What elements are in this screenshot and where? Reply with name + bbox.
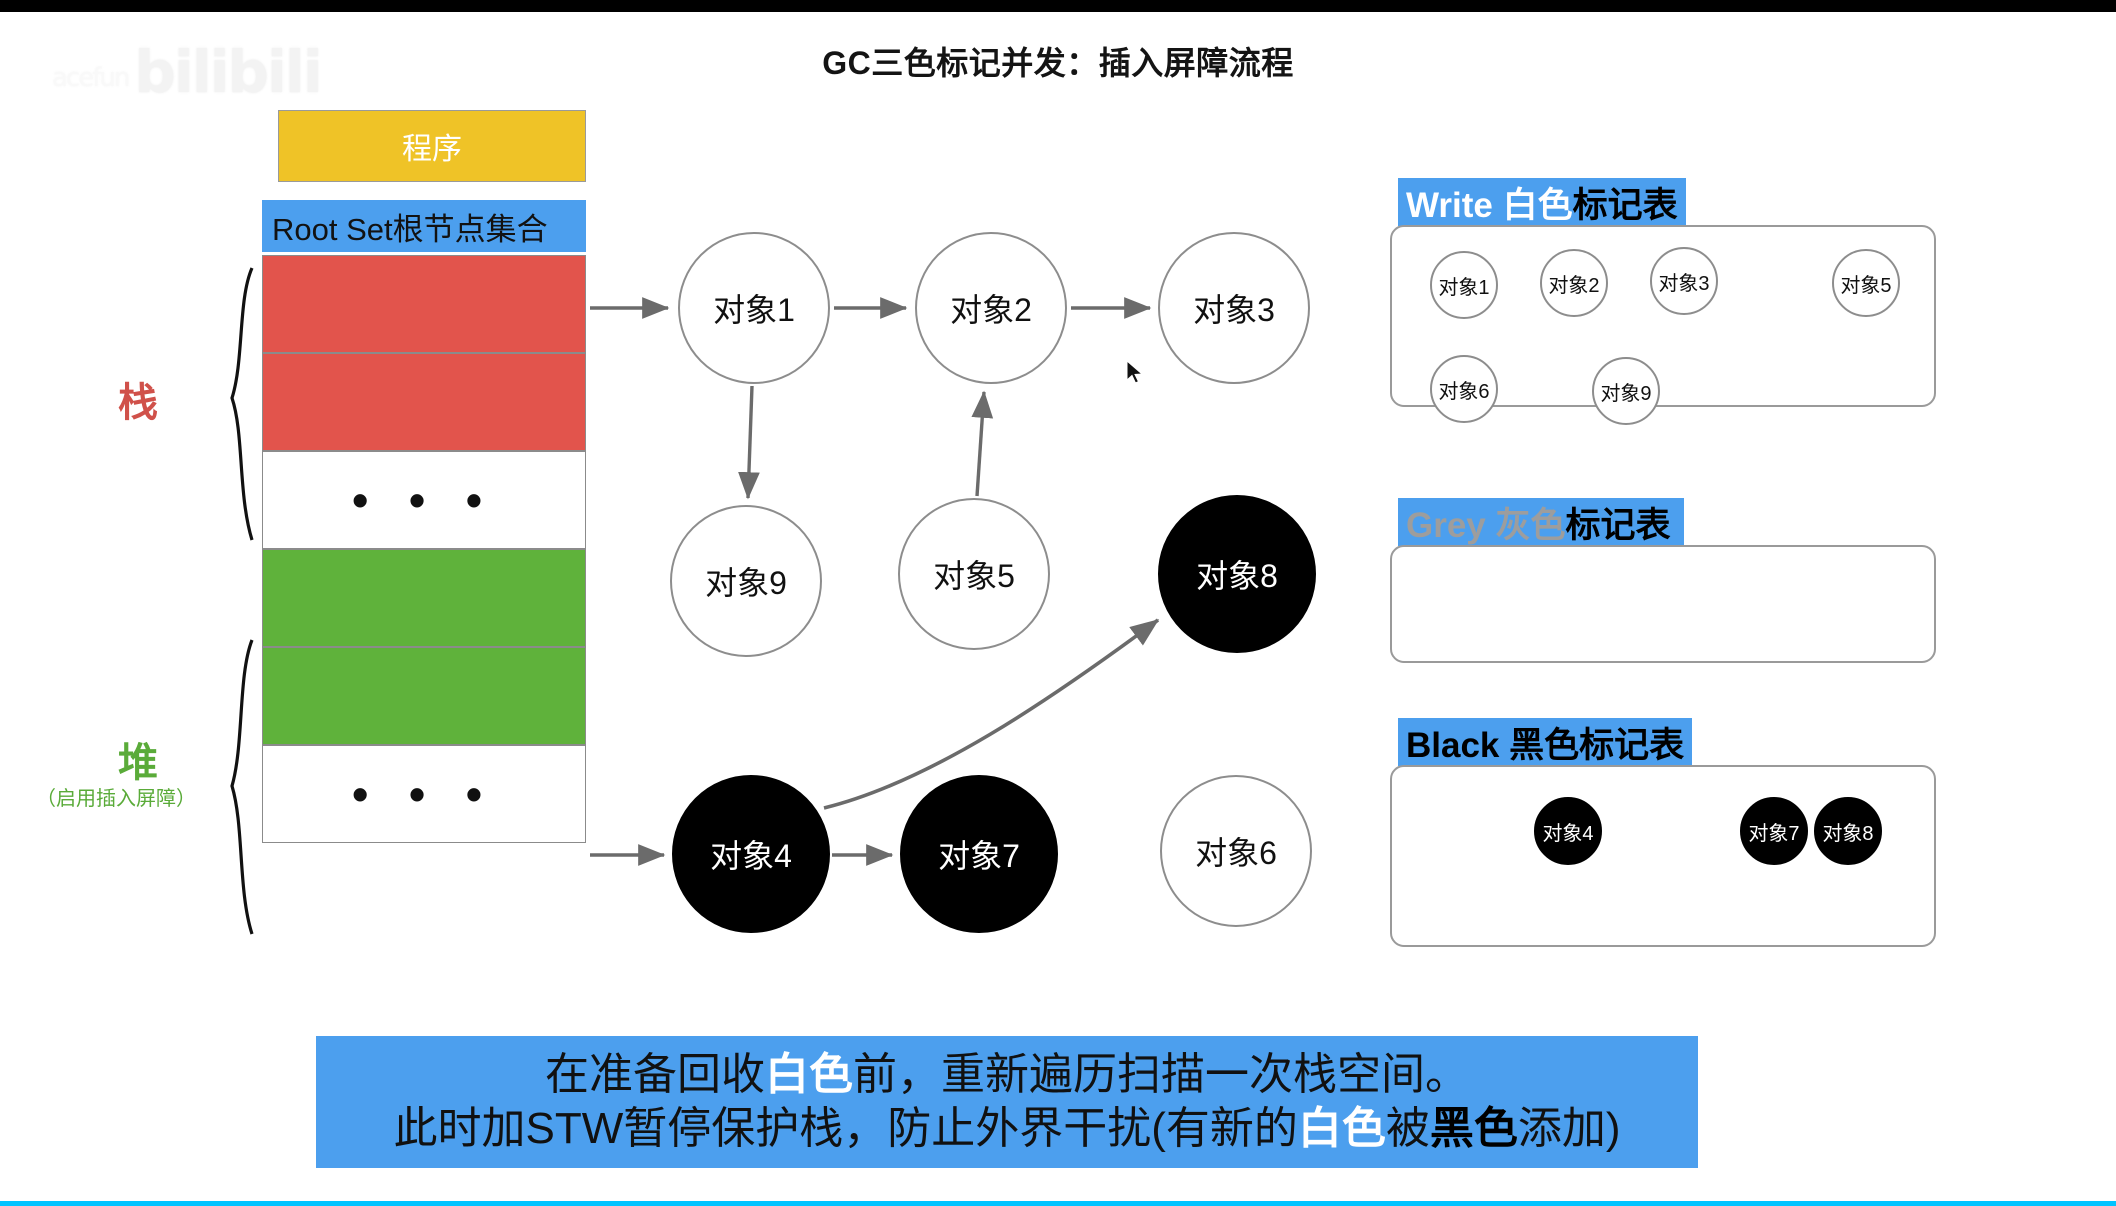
graph-node-o9[interactable]: 对象9 — [670, 505, 822, 657]
table-header-rest: 标记表 — [1573, 177, 1678, 228]
table-chip[interactable]: 对象9 — [1592, 357, 1660, 425]
banner-l2-b: 添加) — [1518, 1104, 1621, 1153]
stack-brace — [232, 268, 252, 540]
graph-node-label: 对象3 — [1193, 285, 1275, 331]
letterbox-top-bar — [0, 0, 2116, 12]
root-set-label: Root Set根节点集合 — [272, 204, 548, 249]
root-set-bar: Root Set根节点集合 — [262, 200, 586, 252]
graph-node-label: 对象2 — [950, 285, 1032, 331]
table-header-strong: Grey 灰色 — [1406, 497, 1566, 548]
heap-label: 堆 — [118, 730, 158, 788]
table-header-black: Black 黑色标记表 — [1398, 718, 1692, 766]
edge-o1-o9 — [748, 386, 752, 498]
table-chip-label: 对象2 — [1548, 269, 1599, 298]
table-header-rest: 标记表 — [1579, 717, 1684, 768]
video-progress-track[interactable] — [0, 1201, 2116, 1206]
table-chip-label: 对象5 — [1840, 269, 1891, 298]
banner-l2-mid: 被 — [1386, 1104, 1430, 1153]
banner-line-2: 此时加STW暂停保护栈，防止外界干扰(有新的白色被黑色添加) — [393, 1102, 1620, 1156]
graph-node-o2[interactable]: 对象2 — [915, 232, 1067, 384]
program-box: 程序 — [278, 110, 586, 182]
banner-l1-highlight: 白色 — [765, 1050, 853, 1099]
graph-node-label: 对象7 — [938, 831, 1020, 877]
table-chip[interactable]: 对象3 — [1650, 247, 1718, 315]
memory-block-white-2: • • • — [262, 451, 586, 549]
table-chip-label: 对象9 — [1600, 377, 1651, 406]
banner-l2-highlight-black: 黑色 — [1430, 1104, 1518, 1153]
memory-column: • • •• • • — [262, 255, 586, 843]
table-chip[interactable]: 对象4 — [1534, 797, 1602, 865]
graph-node-o1[interactable]: 对象1 — [678, 232, 830, 384]
table-header-strong: Write 白色 — [1406, 177, 1573, 228]
heap-brace — [232, 640, 252, 934]
edge-o5-o2 — [977, 392, 984, 496]
table-chip-label: 对象8 — [1822, 817, 1873, 846]
table-chip[interactable]: 对象1 — [1430, 251, 1498, 319]
graph-node-o6[interactable]: 对象6 — [1160, 775, 1312, 927]
program-label: 程序 — [402, 124, 462, 168]
banner-line-1: 在准备回收白色前，重新遍历扫描一次栈空间。 — [545, 1048, 1469, 1102]
graph-node-label: 对象8 — [1196, 551, 1278, 597]
graph-node-label: 对象5 — [933, 551, 1015, 597]
graph-node-o5[interactable]: 对象5 — [898, 498, 1050, 650]
memory-block-green-3 — [262, 549, 586, 647]
banner-l1-a: 在准备回收 — [545, 1050, 765, 1099]
table-body-grey — [1390, 545, 1936, 663]
table-chip[interactable]: 对象2 — [1540, 249, 1608, 317]
explanation-banner: 在准备回收白色前，重新遍历扫描一次栈空间。 此时加STW暂停保护栈，防止外界干扰… — [316, 1036, 1698, 1168]
table-chip-label: 对象6 — [1438, 375, 1489, 404]
table-chip-label: 对象3 — [1658, 267, 1709, 296]
graph-node-o8[interactable]: 对象8 — [1158, 495, 1316, 653]
graph-node-label: 对象1 — [713, 285, 795, 331]
table-header-grey: Grey 灰色标记表 — [1398, 498, 1684, 546]
ellipsis-dots: • • • — [263, 452, 585, 548]
page-title: GC三色标记并发：插入屏障流程 — [0, 38, 2116, 84]
video-progress-fill — [0, 1201, 2116, 1206]
stack-label: 栈 — [118, 370, 158, 428]
memory-block-white-5: • • • — [262, 745, 586, 843]
graph-node-label: 对象6 — [1195, 828, 1277, 874]
mouse-cursor-icon — [1126, 360, 1148, 388]
memory-block-red-0 — [262, 255, 586, 353]
table-body-black: 对象4对象7对象8 — [1390, 765, 1936, 947]
banner-l2-a: 此时加STW暂停保护栈，防止外界干扰(有新的 — [393, 1104, 1297, 1153]
table-header-rest: 标记表 — [1566, 497, 1671, 548]
video-frame: acefunbilibili GC三色标记并发：插入屏障流程 程序 Root S… — [0, 0, 2116, 1206]
graph-node-o4[interactable]: 对象4 — [672, 775, 830, 933]
table-chip-label: 对象7 — [1748, 817, 1799, 846]
table-chip[interactable]: 对象8 — [1814, 797, 1882, 865]
heap-sublabel: （启用插入屏障） — [36, 782, 196, 811]
memory-block-red-1 — [262, 353, 586, 451]
table-chip-label: 对象4 — [1542, 817, 1593, 846]
table-chip[interactable]: 对象6 — [1430, 355, 1498, 423]
table-header-strong: Black 黑色 — [1406, 717, 1579, 768]
memory-block-green-4 — [262, 647, 586, 745]
graph-node-o3[interactable]: 对象3 — [1158, 232, 1310, 384]
table-header-write: Write 白色标记表 — [1398, 178, 1686, 226]
graph-node-o7[interactable]: 对象7 — [900, 775, 1058, 933]
banner-l2-highlight-white: 白色 — [1298, 1104, 1386, 1153]
table-chip-label: 对象1 — [1438, 271, 1489, 300]
table-chip[interactable]: 对象7 — [1740, 797, 1808, 865]
graph-node-label: 对象4 — [710, 831, 792, 877]
graph-node-label: 对象9 — [705, 558, 787, 604]
table-body-write: 对象1对象2对象3对象5对象6对象9 — [1390, 225, 1936, 407]
banner-l1-b: 前，重新遍历扫描一次栈空间。 — [853, 1050, 1469, 1099]
ellipsis-dots: • • • — [263, 746, 585, 842]
table-chip[interactable]: 对象5 — [1832, 249, 1900, 317]
